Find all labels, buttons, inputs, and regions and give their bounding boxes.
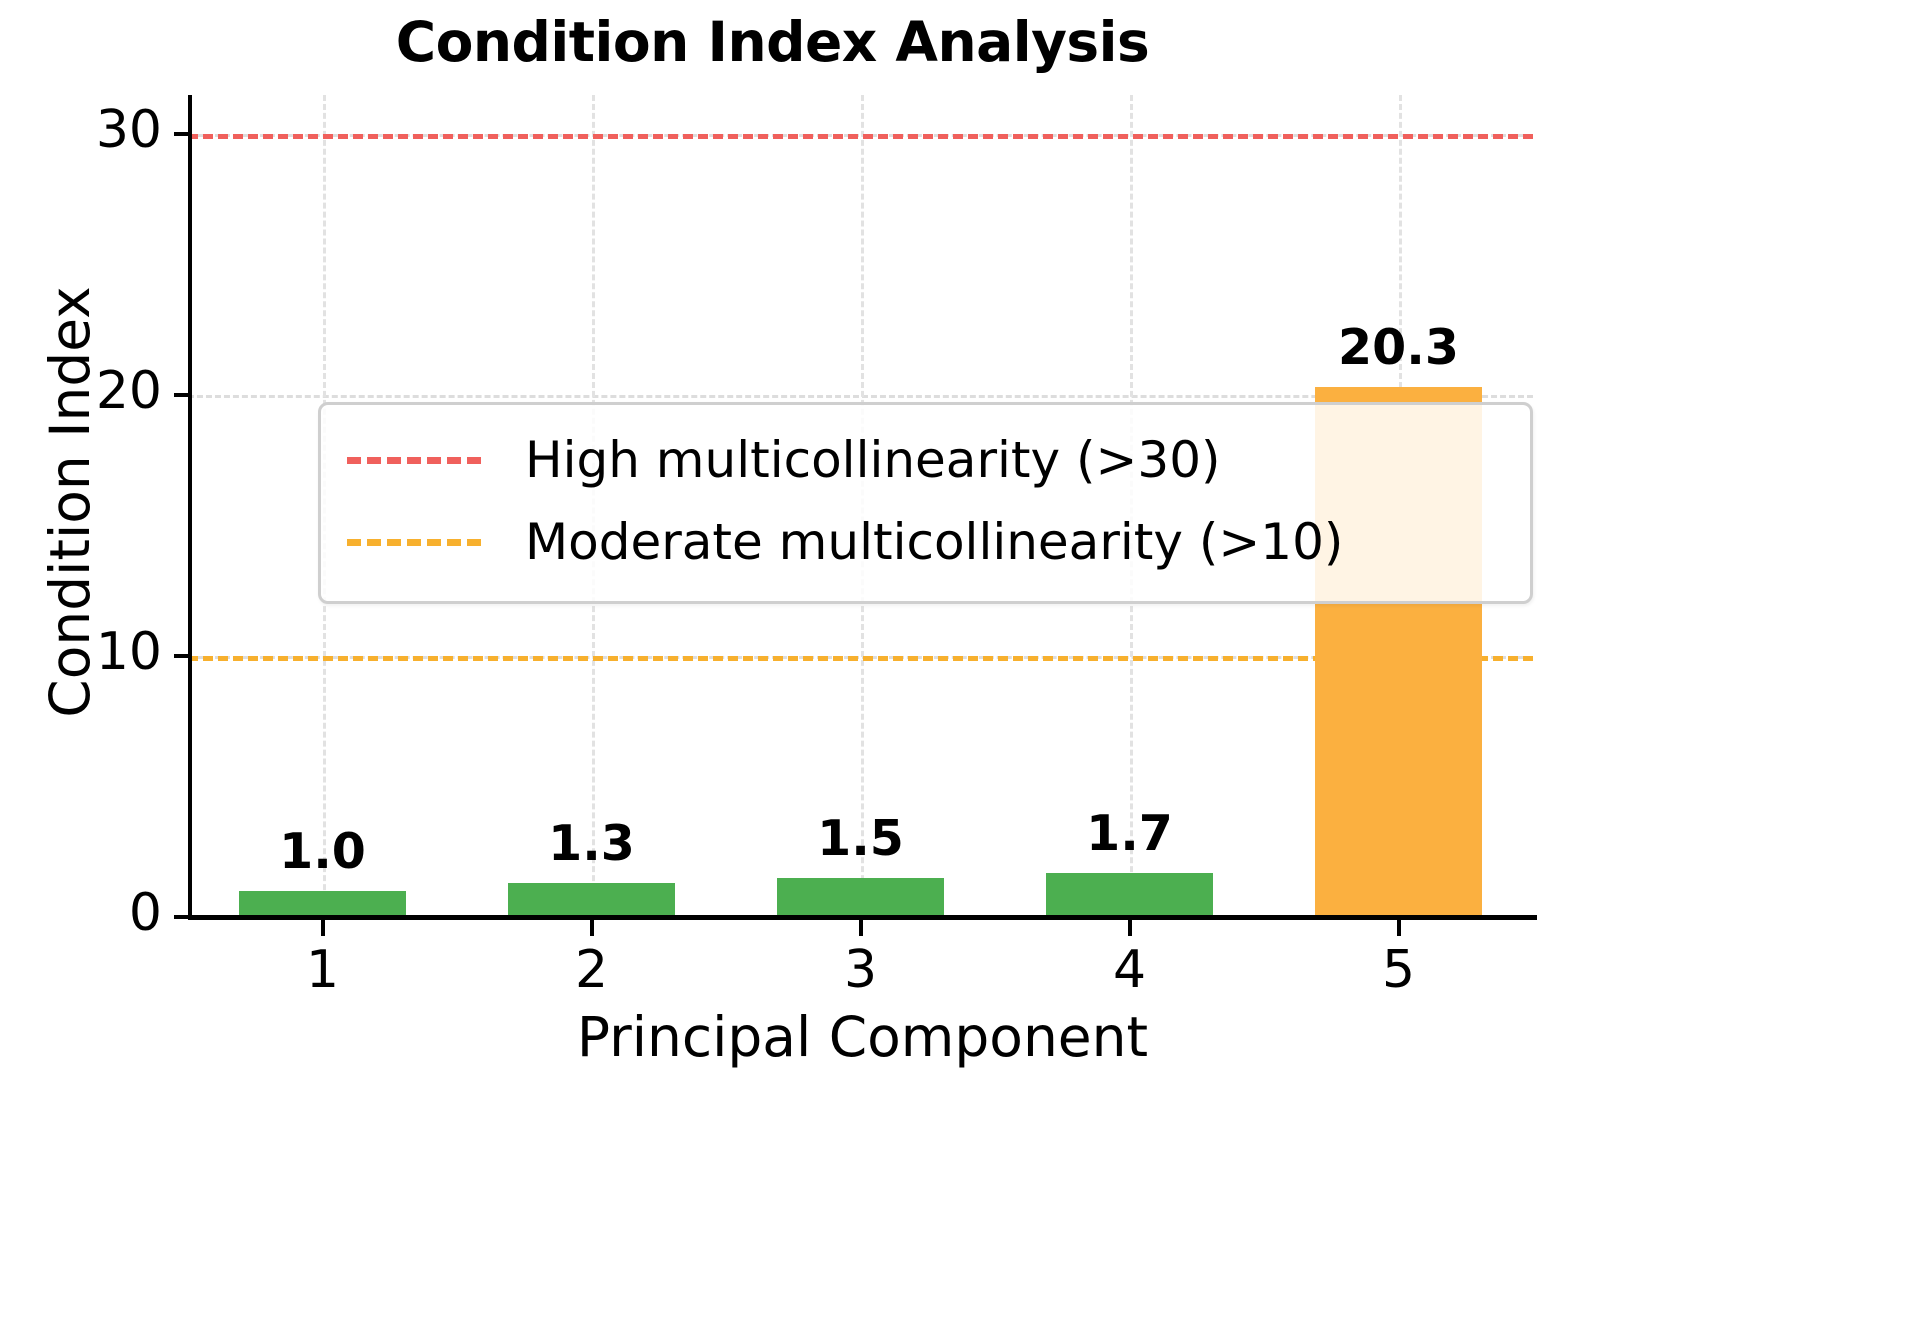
legend-label-moderate: Moderate multicollinearity (>10)	[525, 513, 1343, 571]
bar-value-label-4: 1.7	[995, 805, 1264, 862]
y-axis-spine	[188, 95, 192, 919]
chart-legend: High multicollinearity (>30) Moderate mu…	[318, 402, 1533, 604]
y-tick-label-20: 20	[96, 365, 162, 417]
bar-4[interactable]	[1046, 873, 1213, 917]
y-tick-mark	[174, 915, 190, 919]
x-axis-spine	[188, 915, 1537, 920]
bar-3[interactable]	[777, 878, 944, 917]
y-tick-label-0: 0	[129, 887, 162, 939]
x-tick-mark	[1397, 920, 1401, 936]
legend-label-high: High multicollinearity (>30)	[525, 431, 1221, 489]
x-axis-label: Principal Component	[188, 1005, 1537, 1069]
dashed-line-icon-orange	[347, 539, 481, 546]
x-tick-mark	[1128, 920, 1132, 936]
chart-title: Condition Index Analysis	[0, 10, 1545, 74]
x-tick-label-5: 5	[1264, 940, 1533, 1000]
y-tick-label-30: 30	[96, 104, 162, 156]
bar-value-label-1: 1.0	[188, 823, 457, 880]
y-tick-mark	[174, 393, 190, 397]
y-tick-label-10: 10	[96, 626, 162, 678]
x-tick-label-1: 1	[188, 940, 457, 1000]
x-tick-label-4: 4	[995, 940, 1264, 1000]
y-tick-mark	[174, 654, 190, 658]
x-tick-label-2: 2	[457, 940, 726, 1000]
legend-item-high: High multicollinearity (>30)	[347, 419, 1504, 501]
x-tick-mark	[590, 920, 594, 936]
chart-canvas: Condition Index Analysis 1.01.31.51.720.…	[0, 0, 1545, 1090]
x-tick-mark	[321, 920, 325, 936]
threshold-line-high	[188, 134, 1533, 139]
bar-value-label-3: 1.5	[726, 810, 995, 867]
bar-value-label-5: 20.3	[1264, 319, 1533, 376]
bar-value-label-2: 1.3	[457, 815, 726, 872]
bar-1[interactable]	[239, 891, 406, 917]
legend-item-moderate: Moderate multicollinearity (>10)	[347, 501, 1504, 583]
y-tick-mark	[174, 132, 190, 136]
dashed-line-icon-red	[347, 457, 481, 464]
x-tick-label-3: 3	[726, 940, 995, 1000]
bar-2[interactable]	[508, 883, 675, 917]
x-tick-mark	[859, 920, 863, 936]
y-axis-label: Condition Index	[38, 102, 102, 902]
